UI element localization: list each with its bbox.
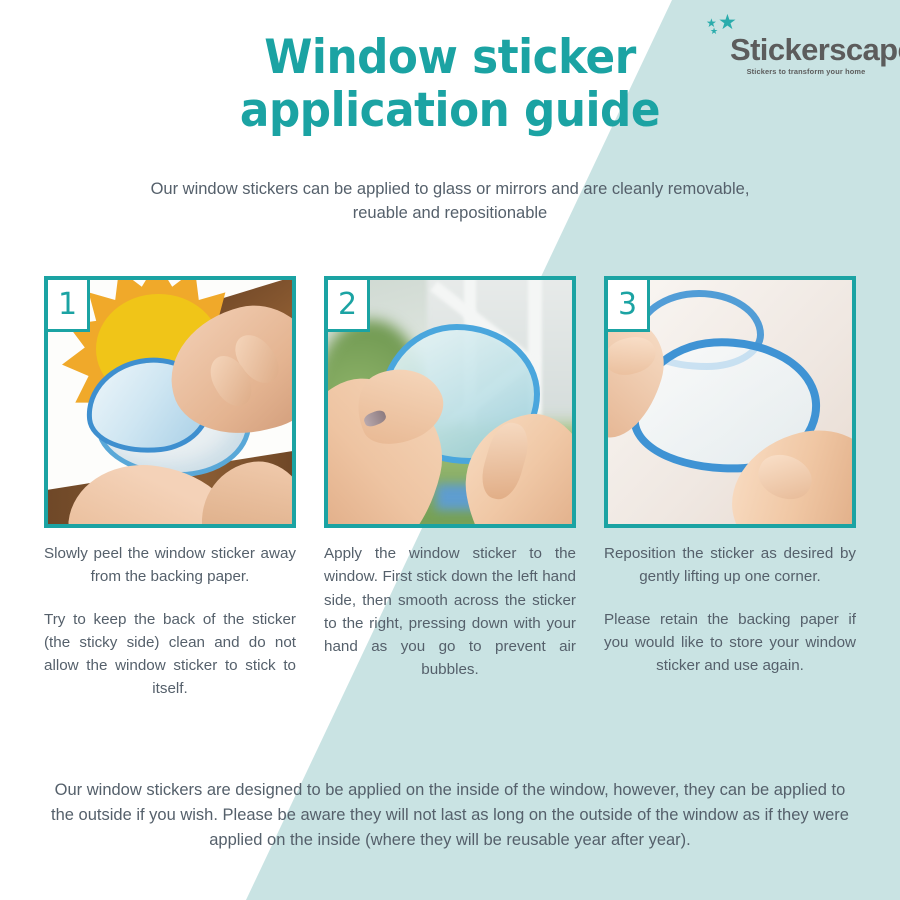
footer-note: Our window stickers are designed to be a… <box>50 778 850 852</box>
step-2-caption: Apply the window sticker to the window. … <box>324 542 576 682</box>
window-sticker-application-guide-page: ★ ★ ★ Stickerscape® Stickers to transfor… <box>0 0 900 900</box>
step-2-number-badge: 2 <box>328 280 370 332</box>
step-1-number-badge: 1 <box>48 280 90 332</box>
step-1-photo-frame: 1 <box>44 276 296 528</box>
page-title-line-1: Window sticker <box>32 32 869 85</box>
step-1-caption: Slowly peel the window sticker away from… <box>44 542 296 701</box>
page-title: Window sticker application guide <box>32 32 869 137</box>
step-3-paragraph-2: Please retain the backing paper if you w… <box>604 608 856 678</box>
step-3: 3 Reposition the sticker as desired by g… <box>604 276 856 701</box>
step-2-photo-frame: 2 <box>324 276 576 528</box>
step-3-number-badge: 3 <box>608 280 650 332</box>
page-subtitle: Our window stickers can be applied to gl… <box>150 178 750 226</box>
step-1: 1 Slowly peel the window sticker away fr… <box>44 276 296 701</box>
step-2: 2 Apply the window sticker to the window… <box>324 276 576 701</box>
step-3-photo-frame: 3 <box>604 276 856 528</box>
step-2-paragraph-1: Apply the window sticker to the window. … <box>324 542 576 682</box>
step-3-paragraph-1: Reposition the sticker as desired by gen… <box>604 542 856 589</box>
step-3-caption: Reposition the sticker as desired by gen… <box>604 542 856 677</box>
page-title-line-2: application guide <box>32 85 869 138</box>
step-1-paragraph-1: Slowly peel the window sticker away from… <box>44 542 296 589</box>
star-icon-large: ★ <box>718 12 737 33</box>
steps-row: 1 Slowly peel the window sticker away fr… <box>44 276 856 701</box>
step-1-paragraph-2: Try to keep the back of the sticker (the… <box>44 608 296 701</box>
